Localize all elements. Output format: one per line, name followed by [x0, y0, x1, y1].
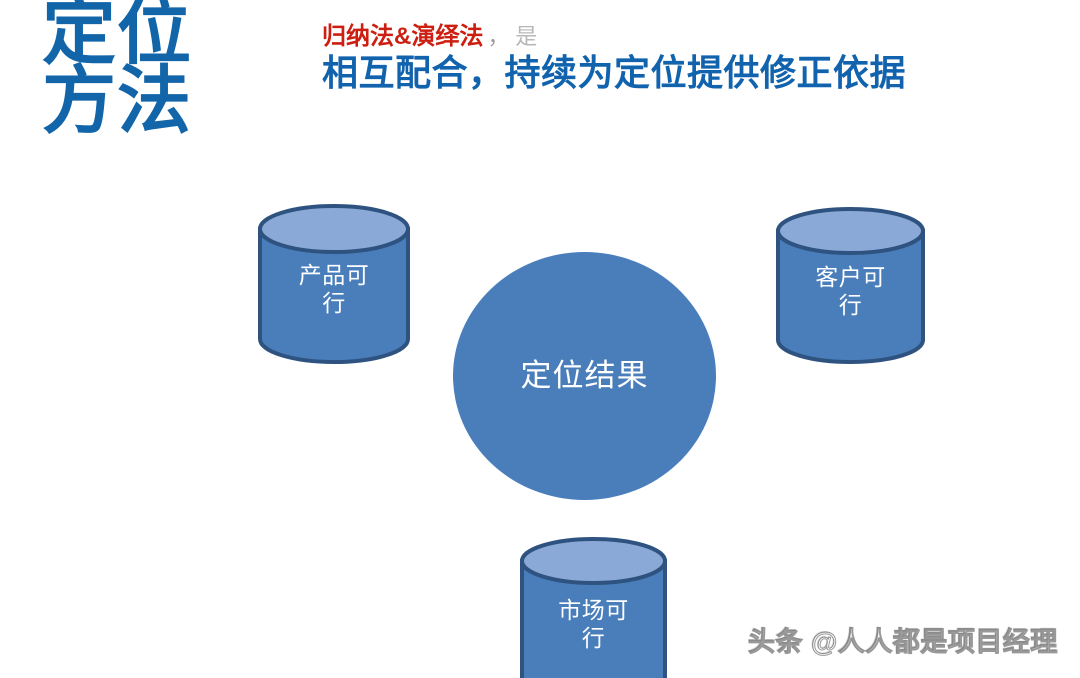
cylinder-node-market: 市场可 行 [519, 536, 668, 678]
center-node-positioning-result: 定位结果 [453, 252, 716, 500]
cylinder-shape-icon [519, 536, 668, 678]
cylinder-node-product: 产品可 行 [257, 203, 411, 365]
slide-canvas: 定位 方法 归纳法&演绎法 ， 是 相互配合，持续为定位提供修正依据 产品可 行 [0, 0, 1080, 678]
watermark: 头条 @人人都是项目经理 [748, 620, 1058, 659]
cylinder-shape-icon [775, 206, 926, 366]
cylinder-node-customer: 客户可 行 [775, 206, 926, 366]
center-node-label: 定位结果 [521, 357, 649, 394]
hub-and-spoke-diagram: 产品可 行 客户可 行 定位结果 市场可 [0, 0, 1080, 678]
cylinder-shape-icon [257, 203, 411, 365]
